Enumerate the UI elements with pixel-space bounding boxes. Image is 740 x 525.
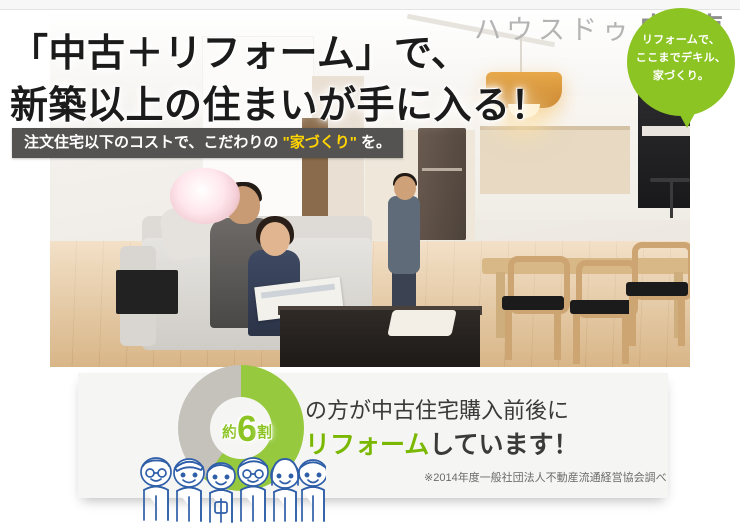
- sub-banner-before: 注文住宅以下のコストで、こだわりの: [24, 134, 283, 151]
- hero-banner: ハウスドゥ 中地南 リフォームで、 ここまでデキル、 家づくり。 「中古＋リフォ…: [0, 0, 740, 525]
- photo-plate: [387, 310, 457, 336]
- speech-bubble-text: リフォームで、 ここまでデキル、 家づくり。: [627, 31, 735, 85]
- photo-chair-leg: [678, 296, 685, 346]
- photo-standing-man-head: [394, 176, 416, 200]
- photo-dining-chair: [626, 246, 688, 342]
- photo-chair-seat: [570, 300, 632, 314]
- bubble-line-3: 家づくり。: [627, 67, 735, 85]
- headline-line-1: 「中古＋リフォーム」で、: [10, 22, 469, 77]
- doodle-person-1: [141, 458, 171, 520]
- percent-prefix: 約: [222, 424, 237, 441]
- bubble-line-2: ここまでデキル、: [627, 49, 735, 67]
- headline-line-2: 新築以上の住まいが手に入る！: [10, 74, 549, 129]
- people-doodles: [136, 452, 326, 525]
- photo-dining-chair: [502, 260, 564, 356]
- stat-source-note: ※2014年度一般社団法人不動産流通経営協会調べ: [424, 469, 667, 485]
- photo-chair-leg: [554, 310, 561, 360]
- photo-chair-leg: [505, 310, 512, 360]
- brand-name: ハウスドゥ: [474, 8, 634, 47]
- percent-number: 6: [237, 408, 257, 449]
- photo-standing-man-body: [388, 196, 420, 274]
- doodle-person-2: [174, 459, 204, 521]
- photo-refrigerator: [418, 128, 466, 240]
- photo-chair-leg: [573, 314, 580, 364]
- stat-line-2-rest: しています！: [429, 431, 578, 459]
- sub-banner: 注文住宅以下のコストで、こだわりの "家づくり" を。: [12, 128, 403, 158]
- doodle-person-3: [207, 463, 235, 522]
- sub-banner-highlight: "家づくり": [283, 134, 357, 151]
- photo-chair-seat: [502, 296, 564, 310]
- doodle-person-5: [271, 459, 299, 521]
- photo-side-table: [116, 270, 178, 314]
- photo-child-head: [260, 222, 290, 256]
- sub-banner-after: を。: [357, 134, 391, 151]
- photo-desk-lamp-pole: [670, 180, 673, 218]
- percent-suffix: 割: [257, 424, 272, 441]
- photo-chair-seat: [626, 282, 688, 296]
- doodle-person-4: [238, 458, 268, 521]
- doodle-person-6: [299, 460, 326, 521]
- photo-chair-leg: [629, 296, 636, 346]
- donut-center-label: 約6割: [222, 411, 272, 447]
- photo-chandelier: [170, 168, 240, 224]
- stat-line-1: の方が中古住宅購入前後に: [305, 393, 569, 425]
- stat-line-2: リフォームしています！: [305, 425, 579, 461]
- people-doodle-group: [136, 452, 326, 525]
- bubble-line-1: リフォームで、: [627, 31, 735, 49]
- photo-shelf: [480, 130, 630, 194]
- photo-dining-chair: [570, 264, 632, 360]
